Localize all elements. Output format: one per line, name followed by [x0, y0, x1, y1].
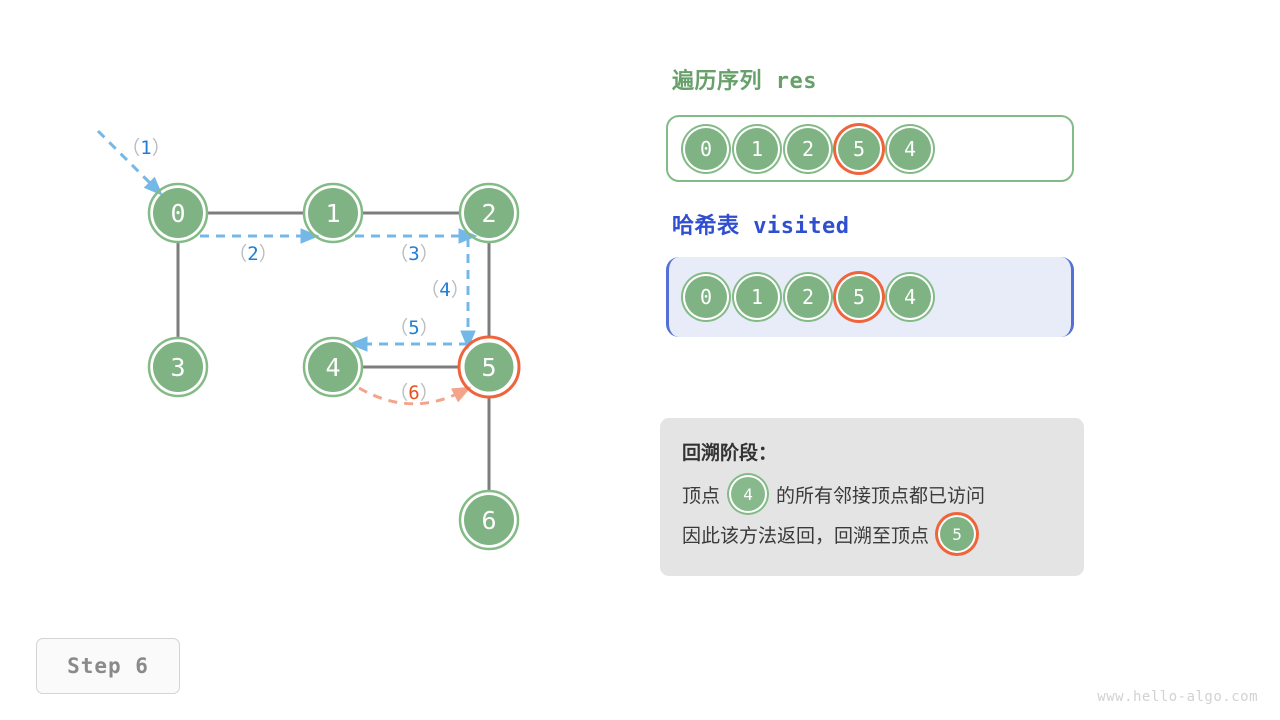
visited-section-title: 哈希表 visited — [672, 208, 849, 240]
visited-item-2[interactable]: 2 — [787, 276, 829, 318]
step-label-3: （3） — [389, 243, 438, 265]
graph-node-0[interactable]: 0 — [149, 184, 207, 242]
visited-item-0[interactable]: 0 — [685, 276, 727, 318]
backtrack-line-1-suffix: 的所有邻接顶点都已访问 — [776, 481, 985, 508]
res-section-title: 遍历序列 res — [672, 63, 817, 95]
visited-item-1-label: 1 — [751, 285, 763, 309]
step-badge: Step 6 — [36, 638, 180, 694]
visited-item-2-label: 2 — [802, 285, 814, 309]
graph-panel: （1） （2） （3） （4） （5） （6） 0 1 2 — [0, 0, 640, 620]
graph-node-1[interactable]: 1 — [304, 184, 362, 242]
backtrack-info-panel: 回溯阶段： 顶点 4 的所有邻接顶点都已访问 因此该方法返回，回溯至顶点 5 — [660, 418, 1084, 576]
res-item-4-label: 4 — [904, 137, 916, 161]
backtrack-line-1: 顶点 4 的所有邻接顶点都已访问 — [682, 477, 1062, 511]
visited-item-1[interactable]: 1 — [736, 276, 778, 318]
res-item-3-label: 5 — [853, 137, 865, 161]
backtrack-heading: 回溯阶段： — [682, 438, 1062, 465]
graph-node-4[interactable]: 4 — [304, 338, 362, 396]
watermark: www.hello-algo.com — [1097, 689, 1258, 705]
visited-item-4-label: 4 — [904, 285, 916, 309]
graph-node-0-label: 0 — [170, 199, 185, 228]
visited-item-4[interactable]: 4 — [889, 276, 931, 318]
step-label-2: （2） — [228, 243, 277, 265]
visited-item-3[interactable]: 5 — [838, 276, 880, 318]
graph-node-3[interactable]: 3 — [149, 338, 207, 396]
backtrack-line-2: 因此该方法返回，回溯至顶点 5 — [682, 517, 1062, 551]
graph-node-4-label: 4 — [325, 353, 340, 382]
graph-node-6[interactable]: 6 — [460, 491, 518, 549]
step-label-4: （4） — [420, 279, 469, 301]
visited-item-0-label: 0 — [700, 285, 712, 309]
res-item-0-label: 0 — [700, 137, 712, 161]
backtrack-line-1-prefix: 顶点 — [682, 481, 720, 508]
visited-item-3-label: 5 — [853, 285, 865, 309]
res-item-4[interactable]: 4 — [889, 128, 931, 170]
graph-node-5[interactable]: 5 — [459, 337, 519, 397]
res-item-0[interactable]: 0 — [685, 128, 727, 170]
res-item-3[interactable]: 5 — [838, 128, 880, 170]
res-item-1[interactable]: 1 — [736, 128, 778, 170]
res-item-2[interactable]: 2 — [787, 128, 829, 170]
res-item-2-label: 2 — [802, 137, 814, 161]
backtrack-line-2-token: 5 — [940, 517, 974, 551]
res-item-1-label: 1 — [751, 137, 763, 161]
backtrack-line-2-prefix: 因此该方法返回，回溯至顶点 — [682, 521, 929, 548]
backtrack-line-2-token-label: 5 — [952, 525, 962, 544]
step-label-1: （1） — [121, 137, 170, 159]
graph-node-3-label: 3 — [170, 353, 185, 382]
graph-nodes: 0 1 2 3 4 — [149, 184, 519, 549]
graph-node-6-label: 6 — [481, 506, 496, 535]
right-panel: 遍历序列 res 0 1 2 5 4 哈希表 visited 0 1 2 5 4… — [660, 0, 1280, 720]
graph-node-5-label: 5 — [481, 353, 496, 382]
step-label-6: （6） — [389, 382, 438, 404]
backtrack-line-1-token: 4 — [731, 477, 765, 511]
graph-svg: （1） （2） （3） （4） （5） （6） 0 1 2 — [0, 0, 640, 620]
backtrack-line-1-token-label: 4 — [743, 485, 753, 504]
visited-set-box: 0 1 2 5 4 — [666, 257, 1074, 337]
graph-node-2-label: 2 — [481, 199, 496, 228]
res-array-box: 0 1 2 5 4 — [666, 115, 1074, 182]
step-label-5: （5） — [389, 317, 438, 339]
graph-node-1-label: 1 — [325, 199, 340, 228]
graph-node-2[interactable]: 2 — [460, 184, 518, 242]
